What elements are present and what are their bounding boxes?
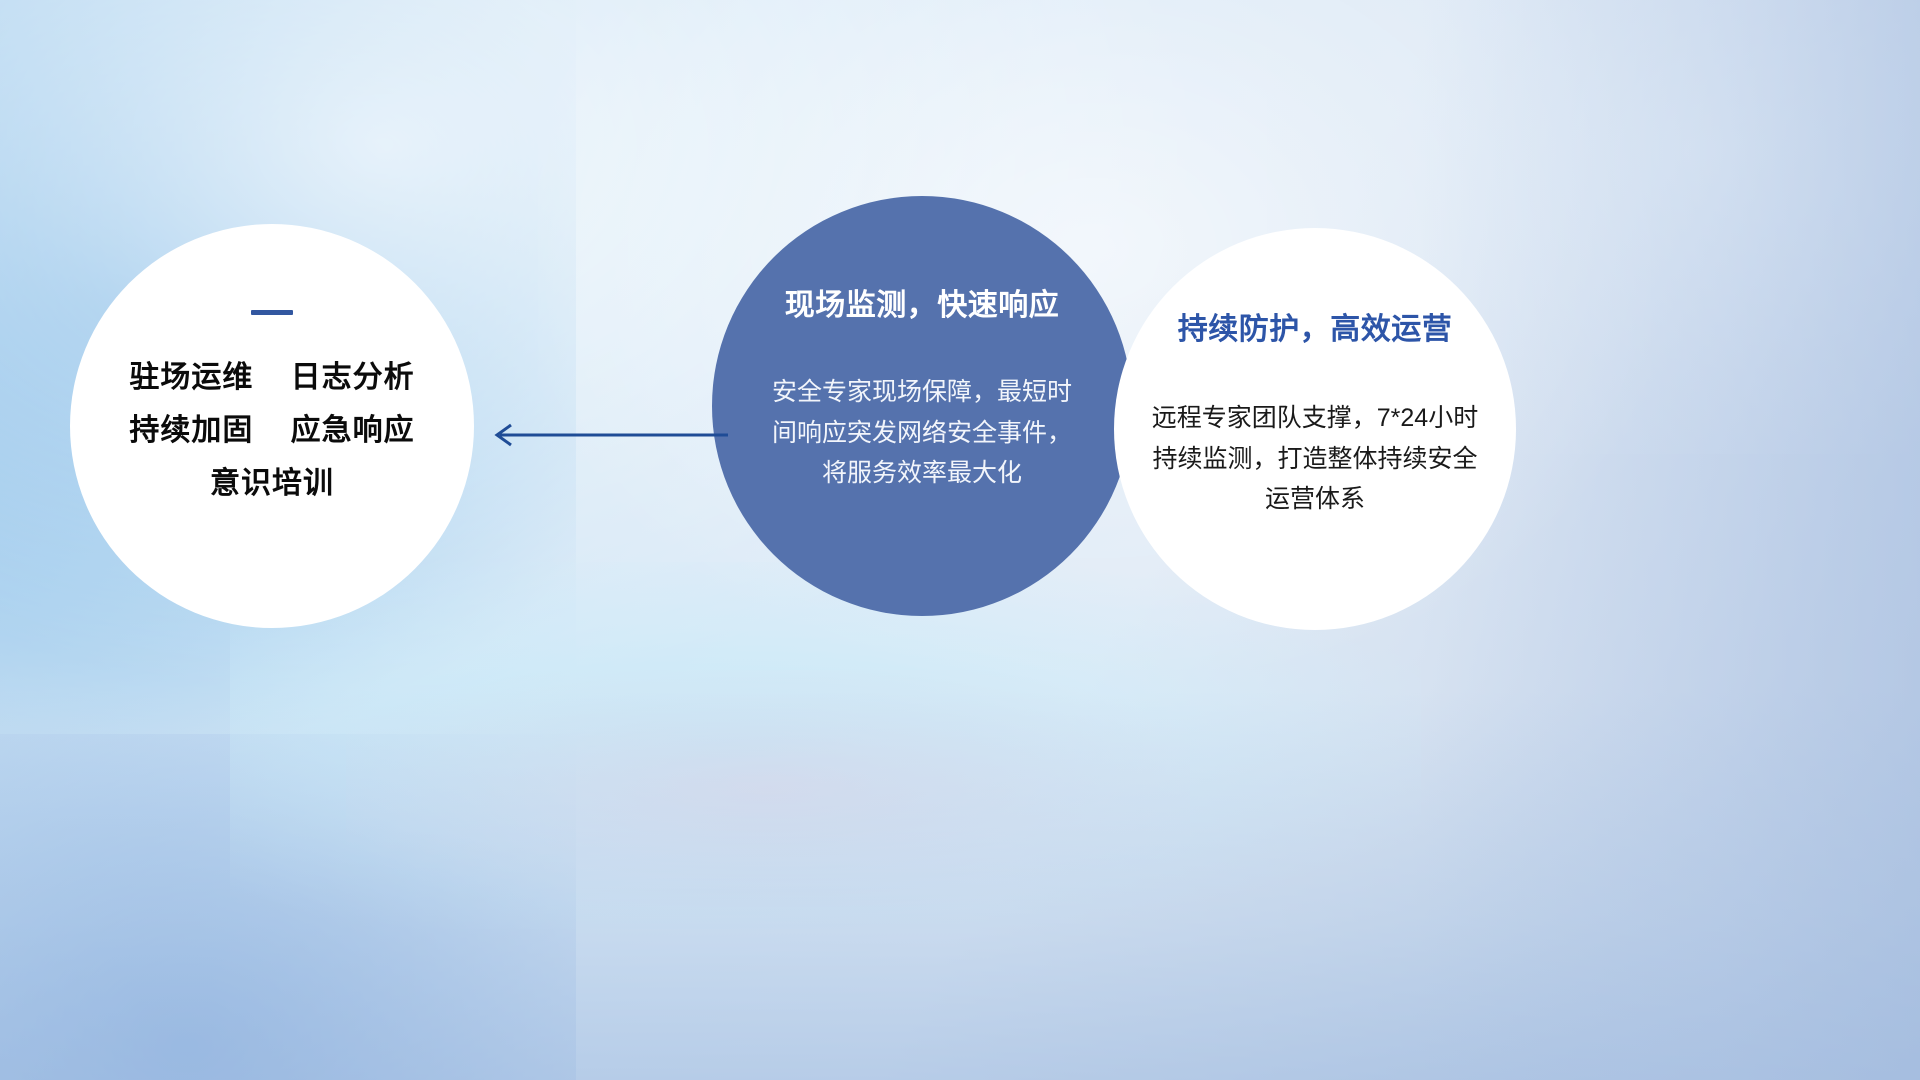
center-circle-heading: 现场监测，快速响应	[785, 280, 1060, 324]
center-onsite-circle: 现场监测，快速响应 安全专家现场保障，最短时间响应突发网络安全事件，将服务效率最…	[712, 196, 1132, 616]
right-circle-body: 远程专家团队支撑，7*24小时持续监测，打造整体持续安全运营体系	[1143, 398, 1487, 520]
horizontal-dash-icon	[251, 310, 293, 315]
left-circle-line-1: 驻场运维 日志分析	[129, 361, 414, 394]
right-operations-circle: 持续防护，高效运营 远程专家团队支撑，7*24小时持续监测，打造整体持续安全运营…	[1114, 228, 1516, 630]
left-circle-line-3: 意识培训	[210, 467, 334, 500]
background-right-shade	[1421, 0, 1920, 1080]
left-circle-text-block: 驻场运维 日志分析 持续加固 应急响应 意识培训	[129, 361, 414, 500]
left-arrow-icon	[480, 418, 730, 452]
left-capability-circle: 驻场运维 日志分析 持续加固 应急响应 意识培训	[70, 224, 474, 628]
right-circle-heading: 持续防护，高效运营	[1178, 304, 1453, 348]
left-circle-line-2: 持续加固 应急响应	[129, 414, 414, 447]
center-circle-body: 安全专家现场保障，最短时间响应突发网络安全事件，将服务效率最大化	[772, 372, 1072, 494]
